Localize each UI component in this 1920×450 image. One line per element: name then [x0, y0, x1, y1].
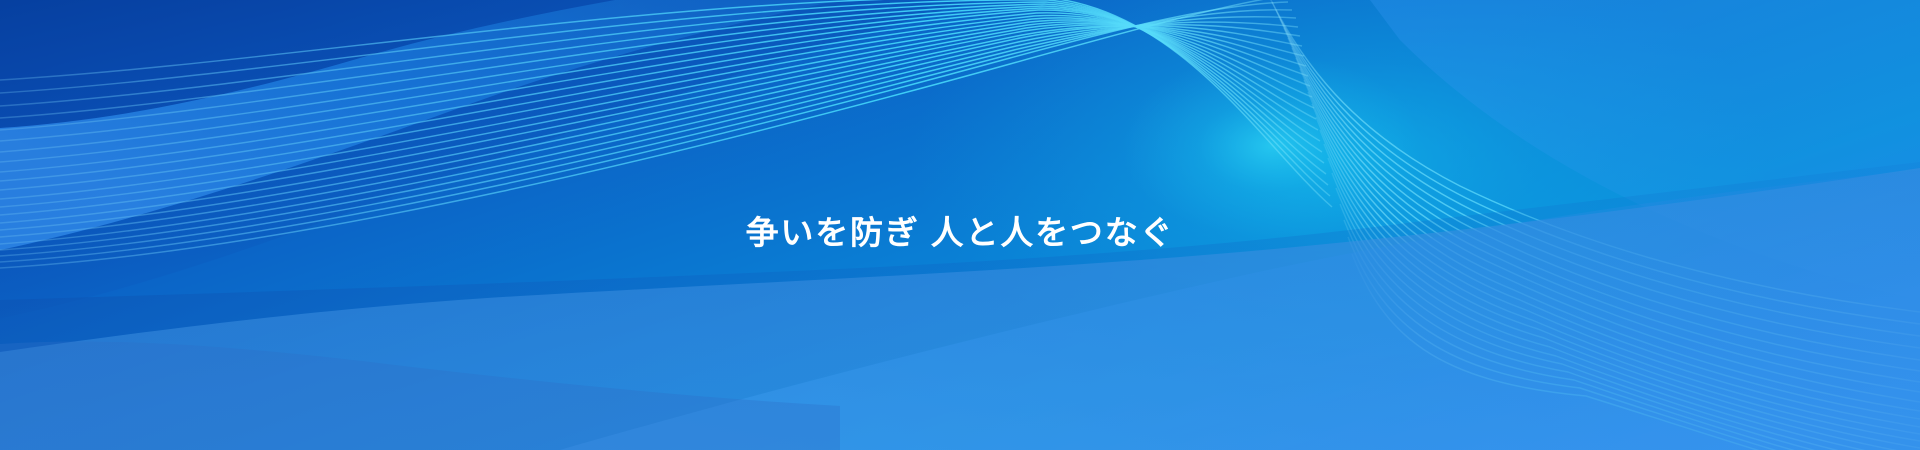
hero-banner: 争いを防ぎ 人と人をつなぐ	[0, 0, 1920, 450]
banner-background-art	[0, 0, 1920, 450]
teal-glow-core	[1122, 54, 1422, 238]
